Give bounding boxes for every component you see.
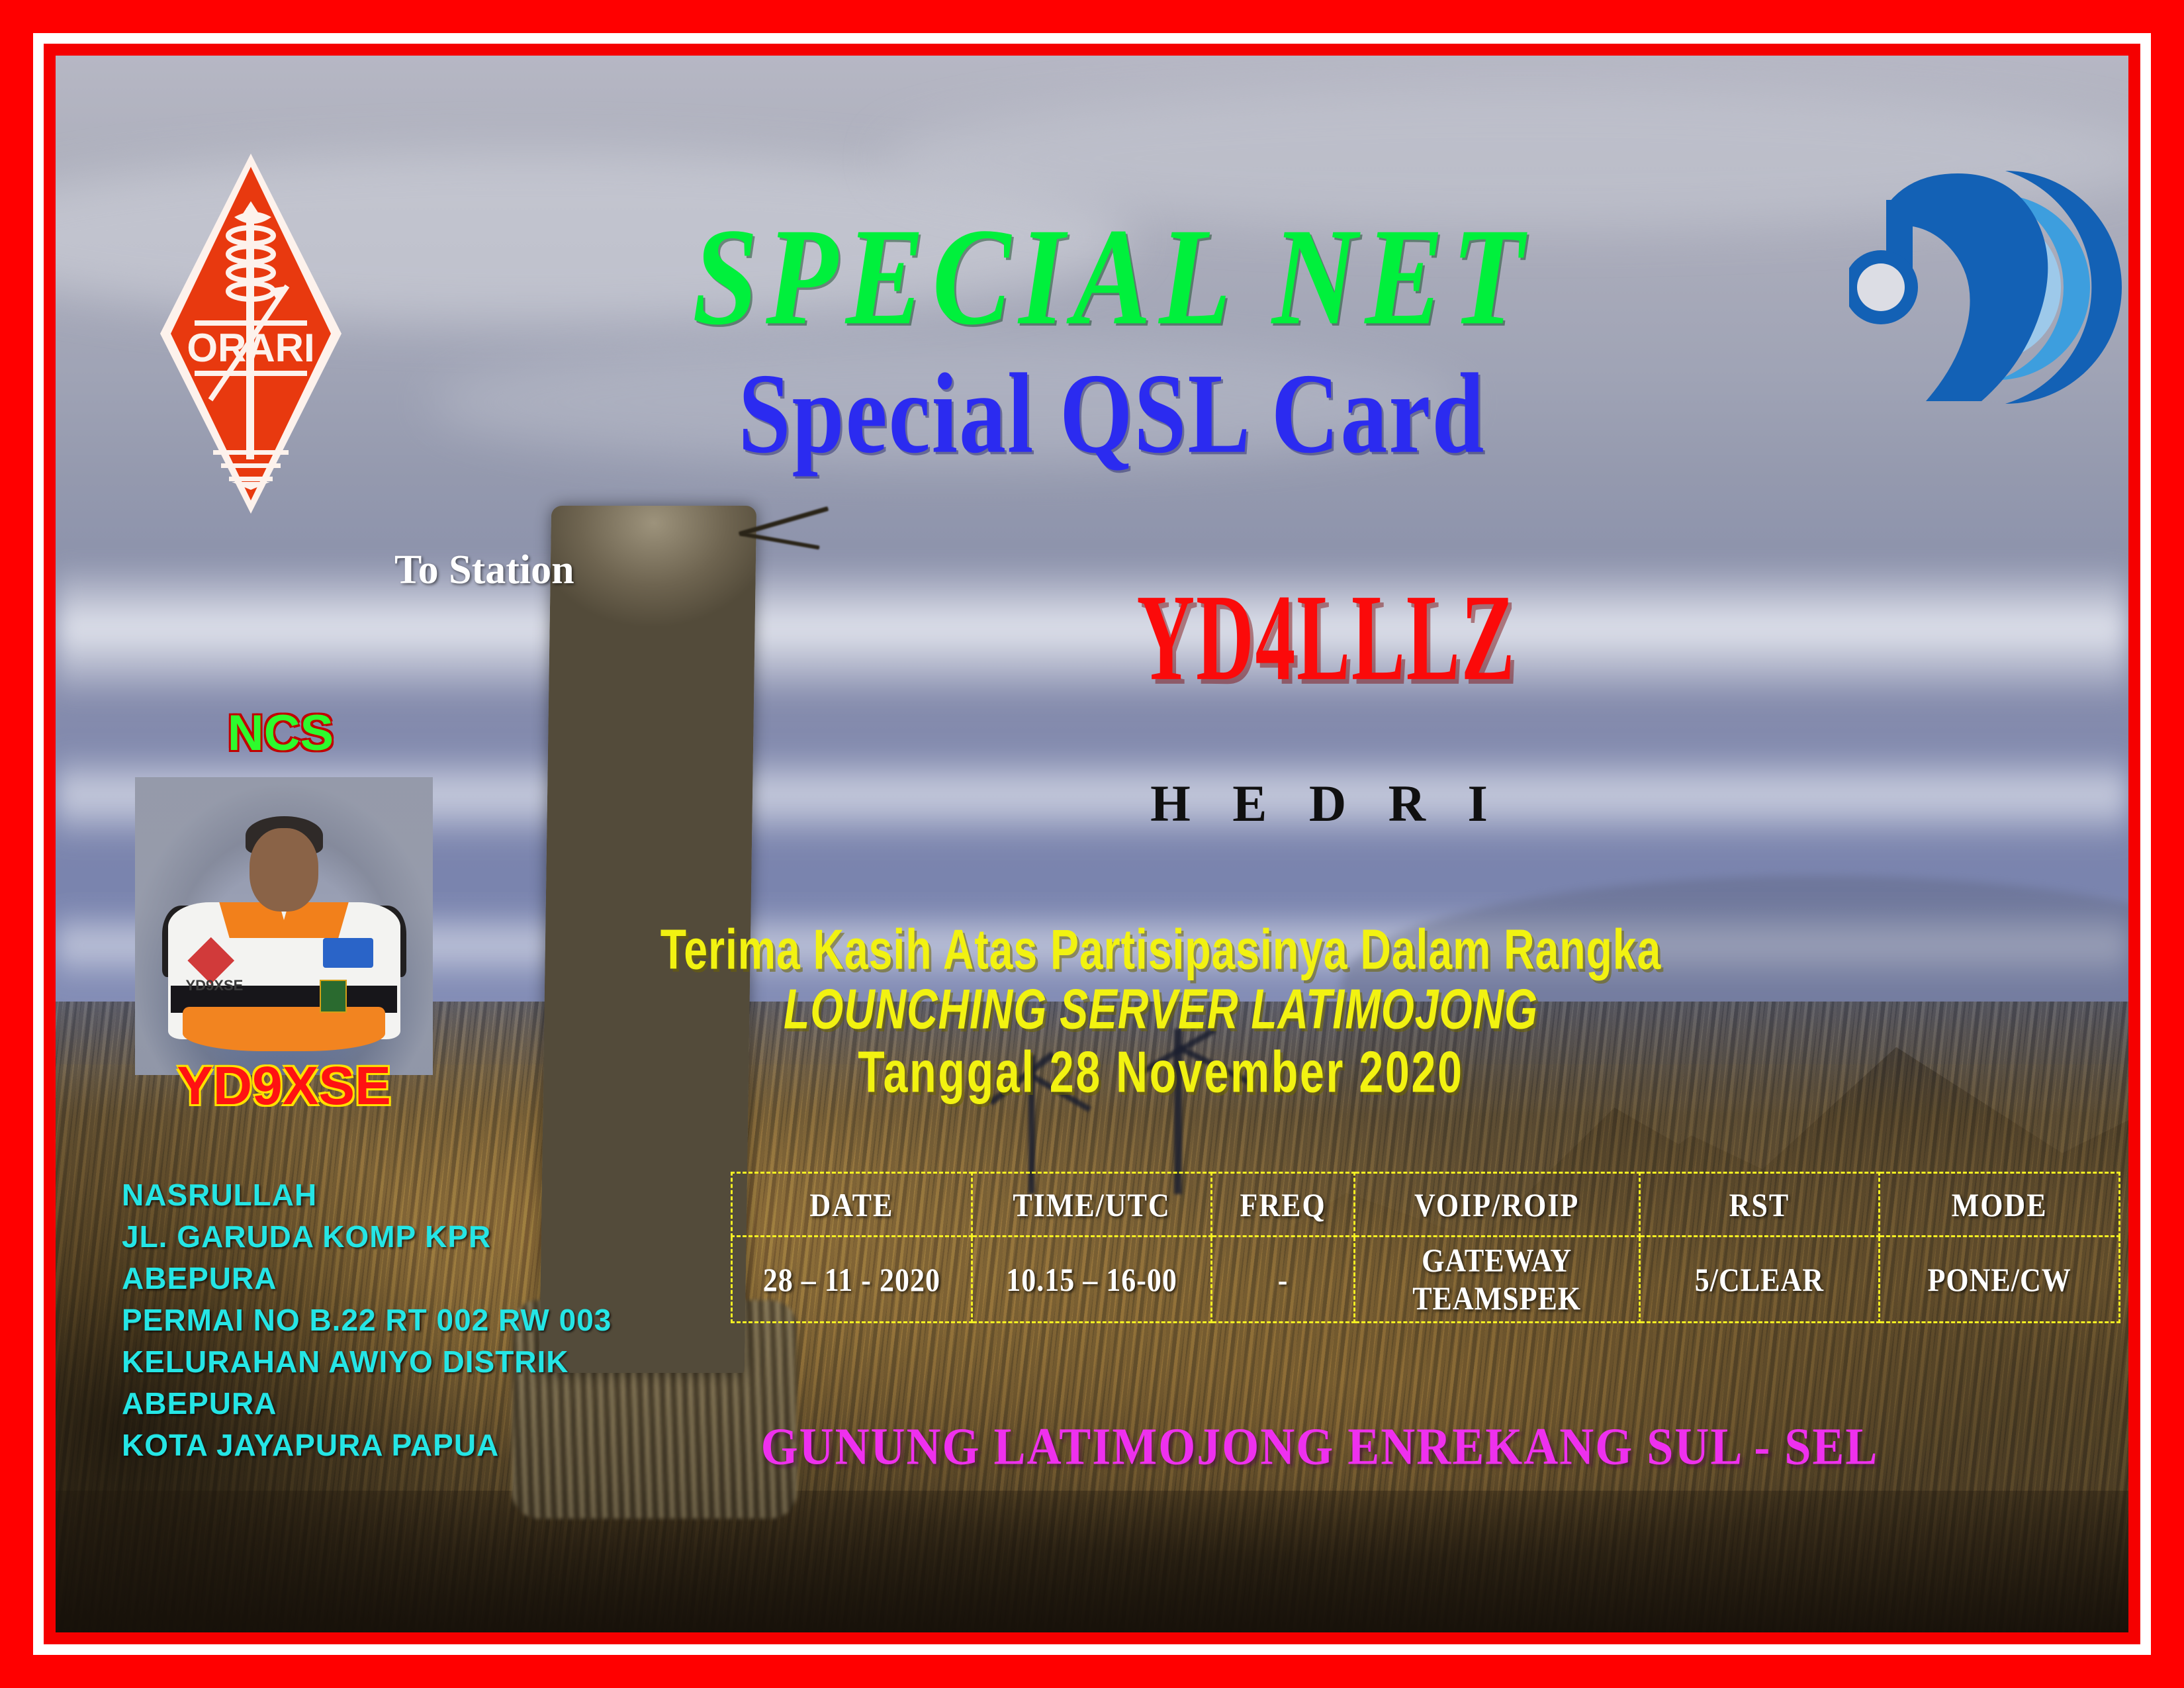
address-line: PERMAI NO B.22 RT 002 RW 003 [122, 1299, 717, 1341]
photo-chest-patch [323, 938, 374, 968]
footer-slogan: "AMATIR RADIO ADALAH PROGRESIVE" [135, 1630, 1119, 1632]
thanks-line-3-date: Tanggal 28 November 2020 [461, 1039, 1861, 1105]
ncs-callsign: YD9XSE [135, 1055, 433, 1117]
page-subtitle-special-qsl-card: Special QSL Card [56, 347, 2128, 479]
column-header-date: DATE [732, 1169, 972, 1241]
column-header-rst: RST [1639, 1169, 1880, 1241]
column-header-voip: VOIP/ROIP [1354, 1169, 1639, 1241]
column-header-time: TIME/UTC [972, 1169, 1212, 1241]
photo-shirt-callsign: YD9XSE [186, 977, 244, 994]
to-station-label: To Station [394, 547, 574, 594]
photo-orange-scarf [183, 1007, 385, 1052]
photo-vignette: YD9XSE [135, 777, 433, 1075]
recipient-callsign: YD4LLLZ [1034, 565, 1618, 709]
thanks-line-2-event: LOUNCHING SERVER LATIMOJONG [461, 976, 1861, 1041]
footer-web-address: Address : amatir.latimojong.com [1333, 1630, 2002, 1632]
cell-mode: PONE/CW [1880, 1231, 2120, 1328]
address-line: NASRULLAH [122, 1174, 717, 1216]
address-line: KOTA JAYAPURA PAPUA [122, 1425, 717, 1466]
operator-name: H E D R I [1009, 774, 1644, 833]
table-row: 28 – 11 - 2020 10.15 – 16-00 - GATEWAY T… [732, 1237, 2120, 1323]
column-header-freq: FREQ [1212, 1169, 1354, 1241]
qsl-card: ORARI [0, 0, 2184, 1688]
table-header-row: DATE TIME/UTC FREQ VOIP/ROIP RST MODE [732, 1173, 2120, 1237]
cell-voip-line2: TEAMSPEK [1355, 1280, 1639, 1317]
ncs-operator-photo: YD9XSE [135, 777, 433, 1075]
cell-date: 28 – 11 - 2020 [732, 1231, 972, 1328]
ncs-label: NCS [168, 704, 393, 762]
cell-voip-line1: GATEWAY [1355, 1241, 1639, 1279]
cell-freq: - [1212, 1231, 1354, 1328]
cell-time: 10.15 – 16-00 [972, 1231, 1212, 1328]
qso-log-table: DATE TIME/UTC FREQ VOIP/ROIP RST MODE 28… [731, 1172, 2120, 1323]
mountain-caption: GUNUNG LATIMOJONG ENREKANG SUL - SEL [691, 1417, 1948, 1477]
photo-id-tag [320, 980, 347, 1013]
card-photo-plate: ORARI [56, 56, 2128, 1632]
address-line: JL. GARUDA KOMP KPR [122, 1216, 717, 1258]
address-line: ABEPURA [122, 1383, 717, 1425]
sender-address-block: NASRULLAH JL. GARUDA KOMP KPR ABEPURA PE… [122, 1174, 717, 1466]
thanks-line-1: Terima Kasih Atas Partisipasinya Dalam R… [461, 917, 1861, 982]
address-line: ABEPURA [122, 1258, 717, 1299]
address-line: KELURAHAN AWIYO DISTRIK [122, 1341, 717, 1383]
photo-face [250, 828, 318, 912]
page-title-special-net: SPECIAL NET [56, 196, 2128, 357]
cell-rst: 5/CLEAR [1639, 1231, 1880, 1328]
cell-voip: GATEWAY TEAMSPEK [1354, 1231, 1639, 1328]
column-header-mode: MODE [1880, 1169, 2120, 1241]
